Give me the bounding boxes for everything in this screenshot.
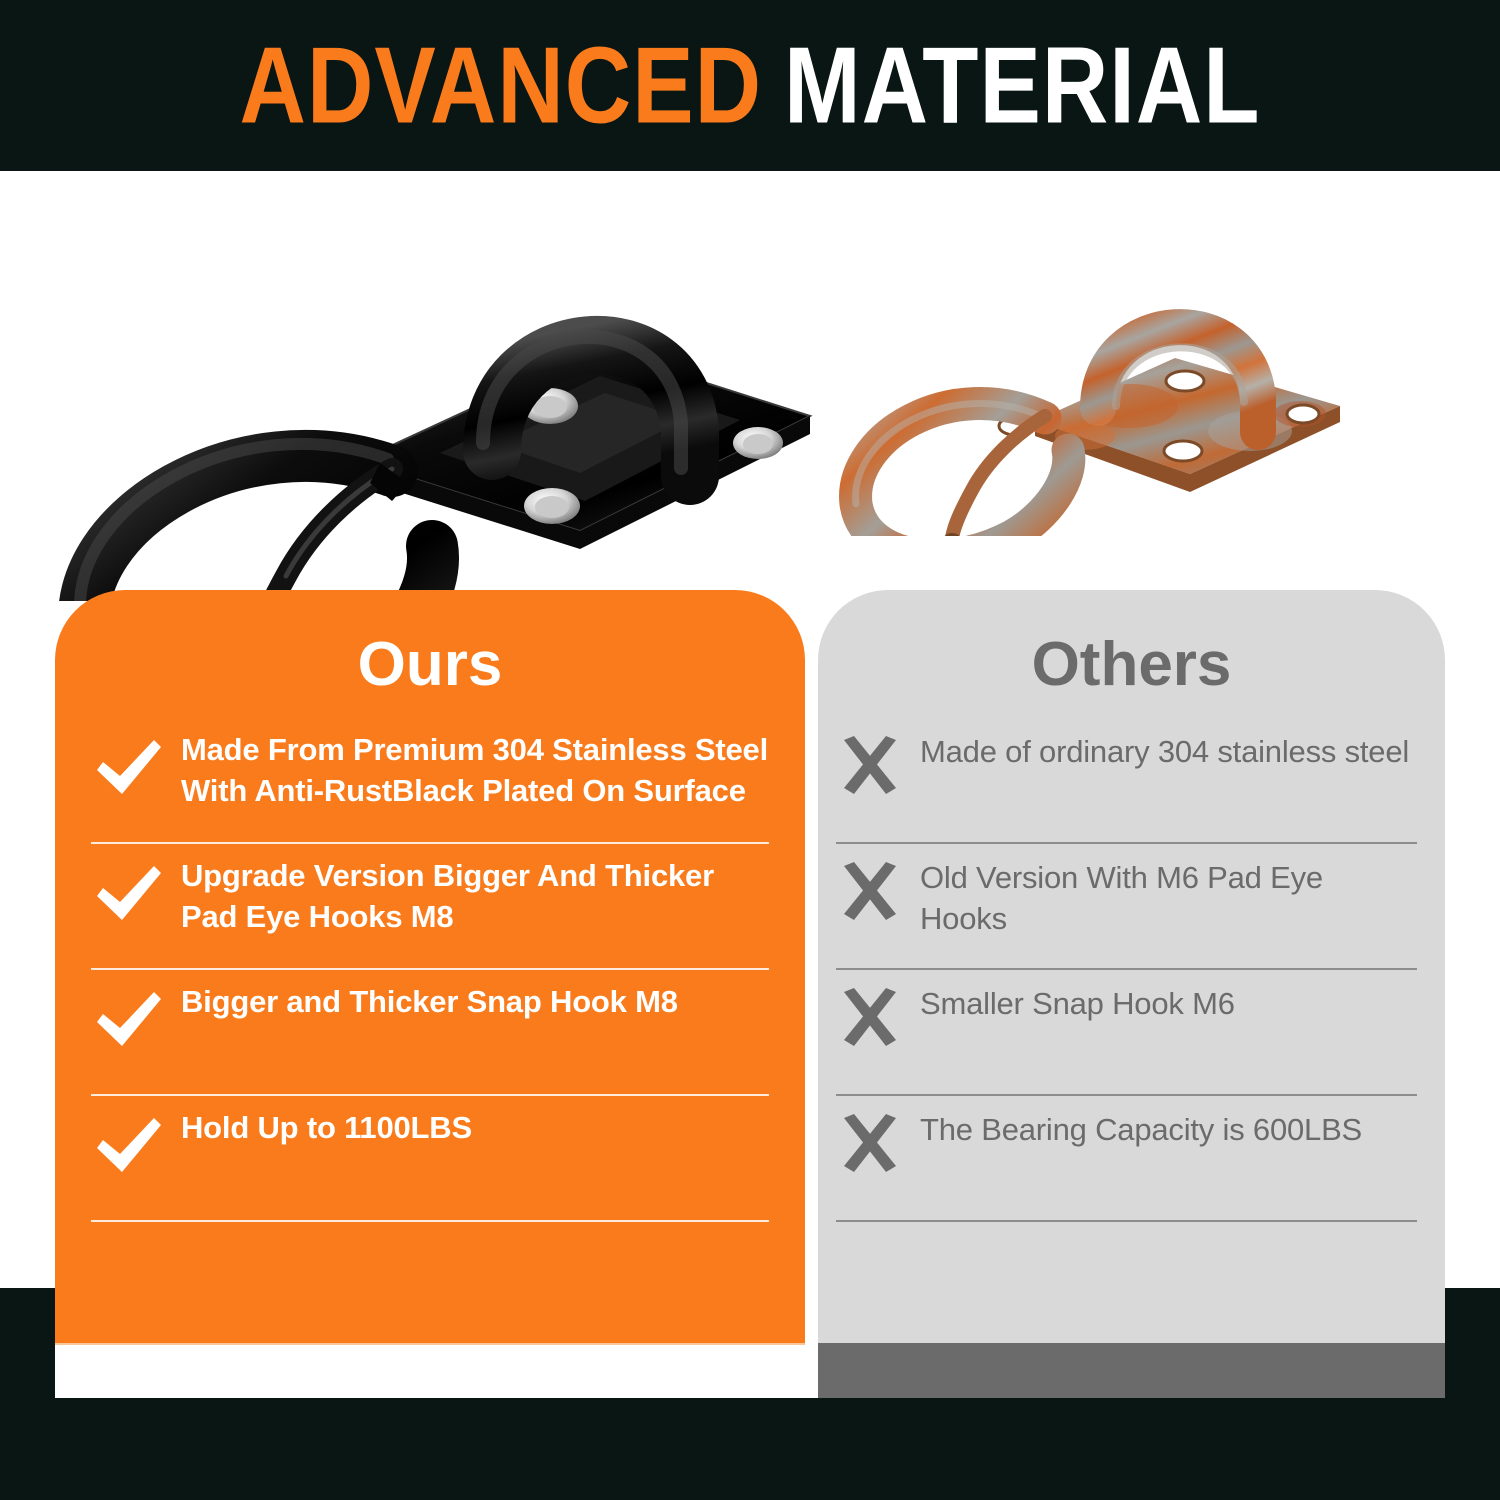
others-panel-base <box>818 1343 1445 1398</box>
cross-icon <box>836 988 904 1050</box>
page-title: ADVANCEDMATERIAL <box>240 31 1261 140</box>
check-icon <box>91 990 167 1050</box>
list-item: Made of ordinary 304 stainless steel <box>836 718 1417 836</box>
list-item: Upgrade Version Bigger And Thicker Pad E… <box>91 844 769 962</box>
ours-feature-text: Hold Up to 1100LBS <box>181 1108 472 1149</box>
ours-panel-base <box>55 1343 805 1398</box>
page-title-highlight: ADVANCED <box>240 25 763 145</box>
list-item: The Bearing Capacity is 600LBS <box>836 1096 1417 1214</box>
others-heading: Others <box>818 590 1445 696</box>
list-item: Bigger and Thicker Snap Hook M8 <box>91 970 769 1088</box>
list-item: Made From Premium 304 Stainless Steel Wi… <box>91 718 769 836</box>
check-icon <box>91 864 167 924</box>
others-feature-text: Old Version With M6 Pad Eye Hooks <box>920 858 1417 940</box>
list-item: Hold Up to 1100LBS <box>91 1096 769 1214</box>
footer-banner <box>0 1398 1500 1500</box>
ours-feature-text: Bigger and Thicker Snap Hook M8 <box>181 982 678 1023</box>
comparison-panel-others: Others Made of ordinary 304 stainless st… <box>818 590 1445 1343</box>
divider <box>91 1220 769 1222</box>
others-feature-text: Smaller Snap Hook M6 <box>920 984 1235 1025</box>
footer-right-step <box>1445 1288 1500 1398</box>
product-image-ours <box>40 201 830 601</box>
infographic-canvas: ADVANCEDMATERIAL <box>0 0 1500 1500</box>
comparison-panel-ours: Ours Made From Premium 304 Stainless Ste… <box>55 590 805 1343</box>
product-image-others <box>830 246 1430 536</box>
cross-icon <box>836 862 904 924</box>
list-item: Smaller Snap Hook M6 <box>836 970 1417 1088</box>
ours-feature-text: Made From Premium 304 Stainless Steel Wi… <box>181 730 769 812</box>
check-icon <box>91 738 167 798</box>
check-icon <box>91 1116 167 1176</box>
ours-feature-list: Made From Premium 304 Stainless Steel Wi… <box>55 718 805 1222</box>
others-feature-list: Made of ordinary 304 stainless steel Old… <box>818 718 1445 1222</box>
cross-icon <box>836 736 904 798</box>
page-title-rest: MATERIAL <box>784 25 1260 145</box>
ours-heading: Ours <box>55 590 805 696</box>
footer-left-step <box>0 1317 55 1398</box>
divider <box>836 1220 1417 1222</box>
list-item: Old Version With M6 Pad Eye Hooks <box>836 844 1417 962</box>
others-feature-text: The Bearing Capacity is 600LBS <box>920 1110 1362 1151</box>
header-banner: ADVANCEDMATERIAL <box>0 0 1500 171</box>
others-feature-text: Made of ordinary 304 stainless steel <box>920 732 1409 773</box>
ours-feature-text: Upgrade Version Bigger And Thicker Pad E… <box>181 856 769 938</box>
cross-icon <box>836 1114 904 1176</box>
product-photo-row <box>0 171 1500 591</box>
